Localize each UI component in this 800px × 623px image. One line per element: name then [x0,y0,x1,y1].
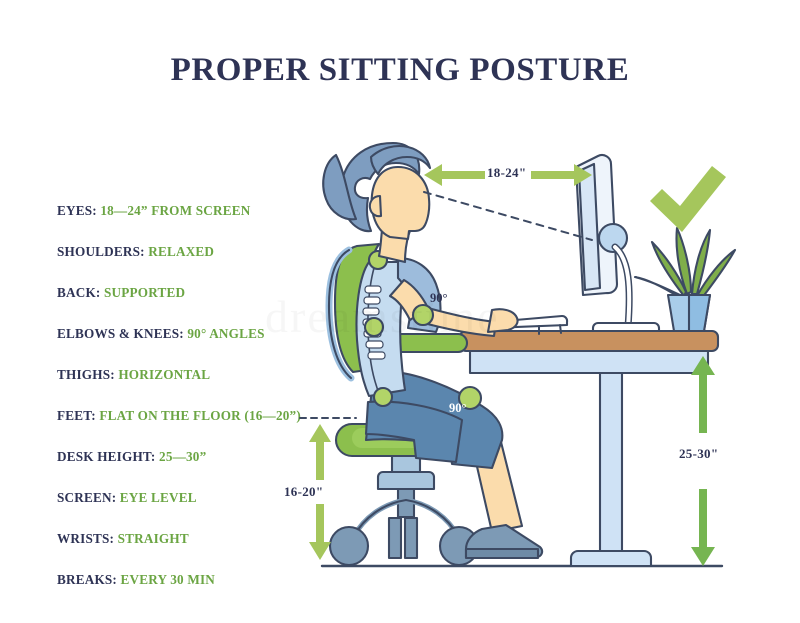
sight-line [424,192,592,240]
illustration [0,0,800,623]
elbow-joint-marker [413,305,433,325]
angle-label-elbow: 90° [430,291,448,306]
hand [488,309,518,332]
measurement-eye-to-screen: 18-24" [487,165,526,181]
measurement-seat-height: 16-20" [284,484,323,500]
potted-plant [635,228,735,331]
mid-spine-joint-marker [365,318,383,336]
check-icon [650,166,726,232]
measurement-desk-height: 25-30" [679,446,718,462]
monitor [576,155,659,331]
chair-wheel [330,527,368,565]
angle-label-knee: 90° [449,401,467,416]
hip-joint-marker [374,388,392,406]
infographic-canvas: PROPER SITTING POSTURE EYES: 18—24” FROM… [0,0,800,623]
